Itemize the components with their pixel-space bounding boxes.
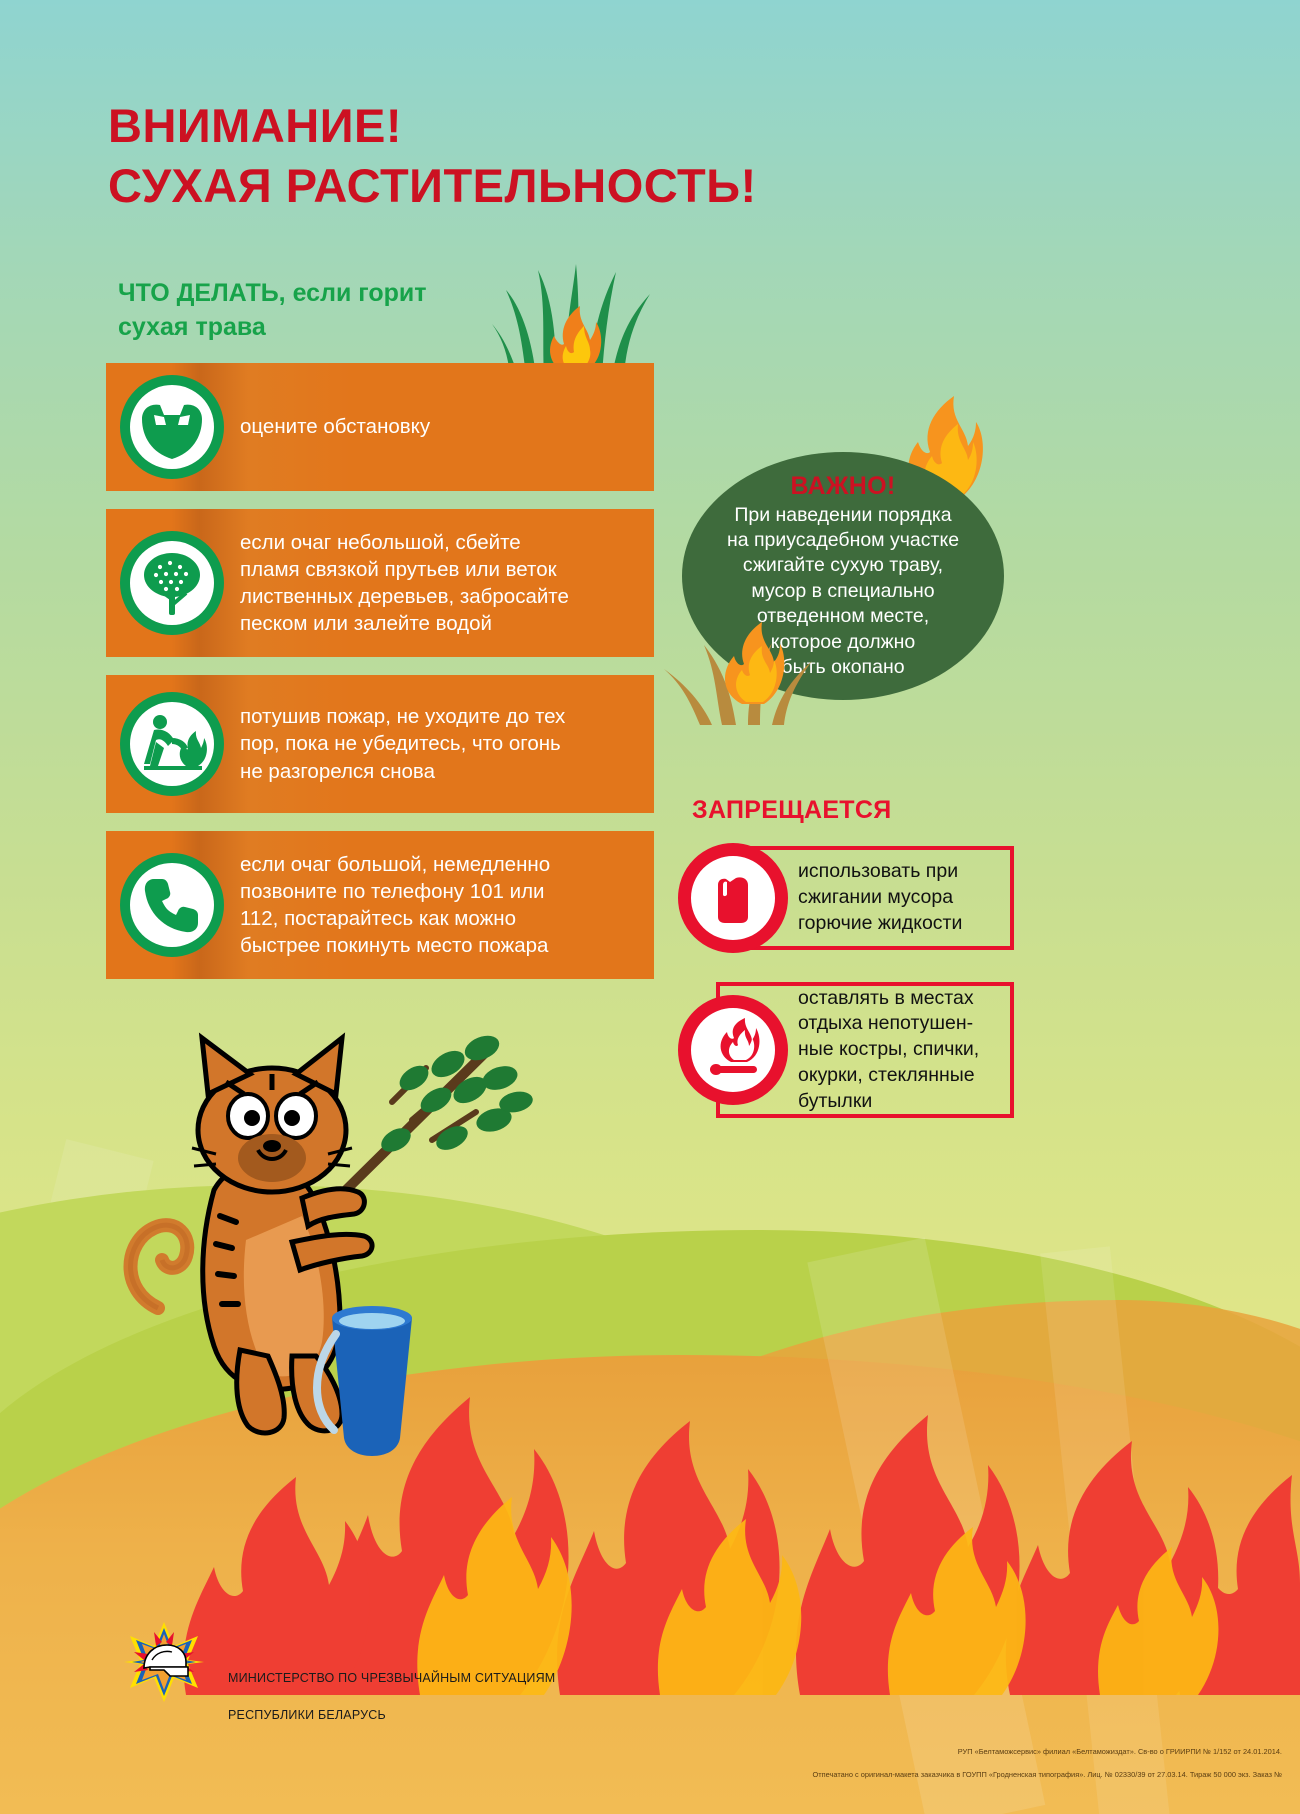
flame-decoration-bottom [712,620,786,711]
instructions-heading-bold: ЧТО ДЕЛАТЬ, [118,279,286,307]
grass-tuft-burning [492,246,672,381]
flame-icon [180,731,207,766]
person-extinguishing-icon [130,702,214,786]
instruction-panel-list: оцените обстановку [106,363,654,997]
instruction-text: потушив пожар, не уходите до тех пор, по… [240,703,565,785]
instruction-badge [120,853,224,957]
instruction-panel: если очаг небольшой, сбейте пламя связко… [106,509,654,657]
instruction-panel: потушив пожар, не уходите до тех пор, по… [106,675,654,813]
fire-safety-poster: ВНИМАНИЕ! СУХАЯ РАСТИТЕЛЬНОСТЬ! ЧТО ДЕЛА… [0,0,1300,1814]
ministry-line-1: МИНИСТЕРСТВО ПО ЧРЕЗВЫЧАЙНЫМ СИТУАЦИЯМ [228,1669,555,1688]
instructions-heading-rest: если горит [286,279,427,307]
tree-branch-icon [130,541,214,625]
ministry-name: МИНИСТЕРСТВО ПО ЧРЕЗВЫЧАЙНЫМ СИТУАЦИЯМ Р… [228,1650,555,1744]
phone-icon [130,863,214,947]
instructions-heading-line2: сухая трава [118,311,518,345]
instruction-badge [120,375,224,479]
title-line-1: ВНИМАНИЕ! [108,96,757,156]
instruction-badge [120,531,224,635]
fineprint-line-2: Отпечатано с оригинал-макета заказчика в… [813,1769,1282,1780]
branch-illustration [346,1031,535,1190]
instruction-text: если очаг большой, немедленно позвоните … [240,851,550,960]
mask-icon [130,385,214,469]
match-flame-icon [678,995,788,1105]
fineprint-line-1: РУП «Белтаможсервис» филиал «Белтаможизд… [813,1746,1282,1757]
instruction-badge [120,692,224,796]
ministry-line-2: РЕСПУБЛИКИ БЕЛАРУСЬ [228,1706,555,1725]
instruction-panel: оцените обстановку [106,363,654,491]
cat-illustration [131,1038,373,1433]
important-title: ВАЖНО! [790,472,895,501]
jerrycan-icon [678,843,788,953]
imprint-fineprint: РУП «Белтаможсервис» филиал «Белтаможизд… [813,1735,1282,1792]
poster-title: ВНИМАНИЕ! СУХАЯ РАСТИТЕЛЬНОСТЬ! [108,96,757,216]
instruction-panel: если очаг большой, немедленно позвоните … [106,831,654,979]
mchs-logo [122,1620,206,1709]
instruction-text: если очаг небольшой, сбейте пламя связко… [240,529,569,638]
instructions-heading: ЧТО ДЕЛАТЬ, если горит сухая трава [118,277,518,345]
title-line-2: СУХАЯ РАСТИТЕЛЬНОСТЬ! [108,156,757,216]
cat-with-branch-and-bucket-illustration [96,990,656,1475]
instruction-text: оцените обстановку [240,413,430,440]
prohibited-heading: ЗАПРЕЩАЕТСЯ [692,796,892,825]
